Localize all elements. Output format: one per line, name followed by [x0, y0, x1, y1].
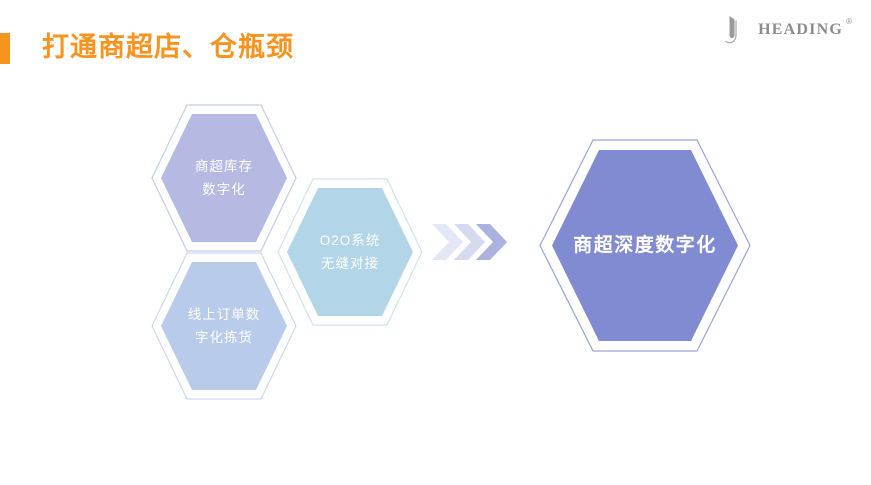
title-accent-bar	[0, 33, 10, 64]
slide-canvas: 打通商超店、仓瓶颈 HEADING ® 商超库存 数字化	[0, 0, 871, 485]
hex-picking[interactable]: 线上订单数 字化拣货	[150, 251, 298, 401]
brand-name: HEADING	[758, 21, 843, 38]
heading-pillar-icon	[725, 14, 751, 46]
trademark-icon: ®	[846, 17, 852, 26]
hex-o2o[interactable]: O2O系统 无缝对接	[276, 177, 424, 327]
hex-result[interactable]: 商超深度数字化	[538, 138, 752, 353]
hex-picking-fill	[150, 251, 298, 401]
brand-wordmark-text: HEADING ®	[758, 21, 843, 39]
page-title: 打通商超店、仓瓶颈	[42, 29, 294, 65]
hex-o2o-fill	[276, 177, 424, 327]
brand-logo: HEADING ®	[725, 14, 843, 46]
chevron-right-triple-icon	[430, 218, 510, 266]
hex-result-fill	[538, 138, 752, 353]
